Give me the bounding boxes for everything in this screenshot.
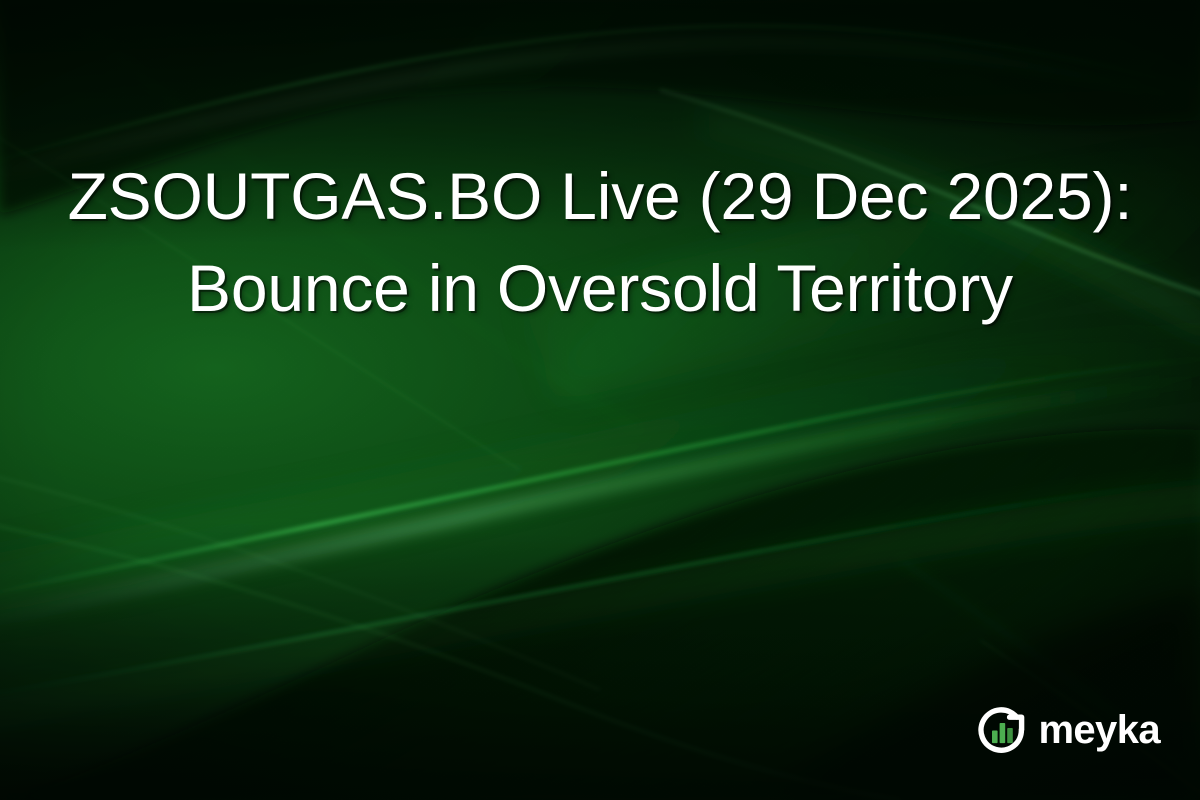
- meyka-logo-icon: [975, 704, 1029, 758]
- brand-logo[interactable]: meyka: [975, 704, 1160, 758]
- background-bottom-shade: [0, 0, 1200, 800]
- background-texture: [0, 0, 1200, 800]
- background-vignette: [0, 0, 1200, 800]
- background-wave-graphic: [0, 0, 1200, 800]
- background-base-gradient: [0, 0, 1200, 800]
- background-top-shade: [0, 0, 1200, 800]
- brand-wordmark: meyka: [1038, 710, 1160, 752]
- headline-container: ZSOUTGAS.BO Live (29 Dec 2025): Bounce i…: [0, 150, 1200, 334]
- page-title: ZSOUTGAS.BO Live (29 Dec 2025): Bounce i…: [60, 150, 1140, 334]
- og-card: ZSOUTGAS.BO Live (29 Dec 2025): Bounce i…: [0, 0, 1200, 800]
